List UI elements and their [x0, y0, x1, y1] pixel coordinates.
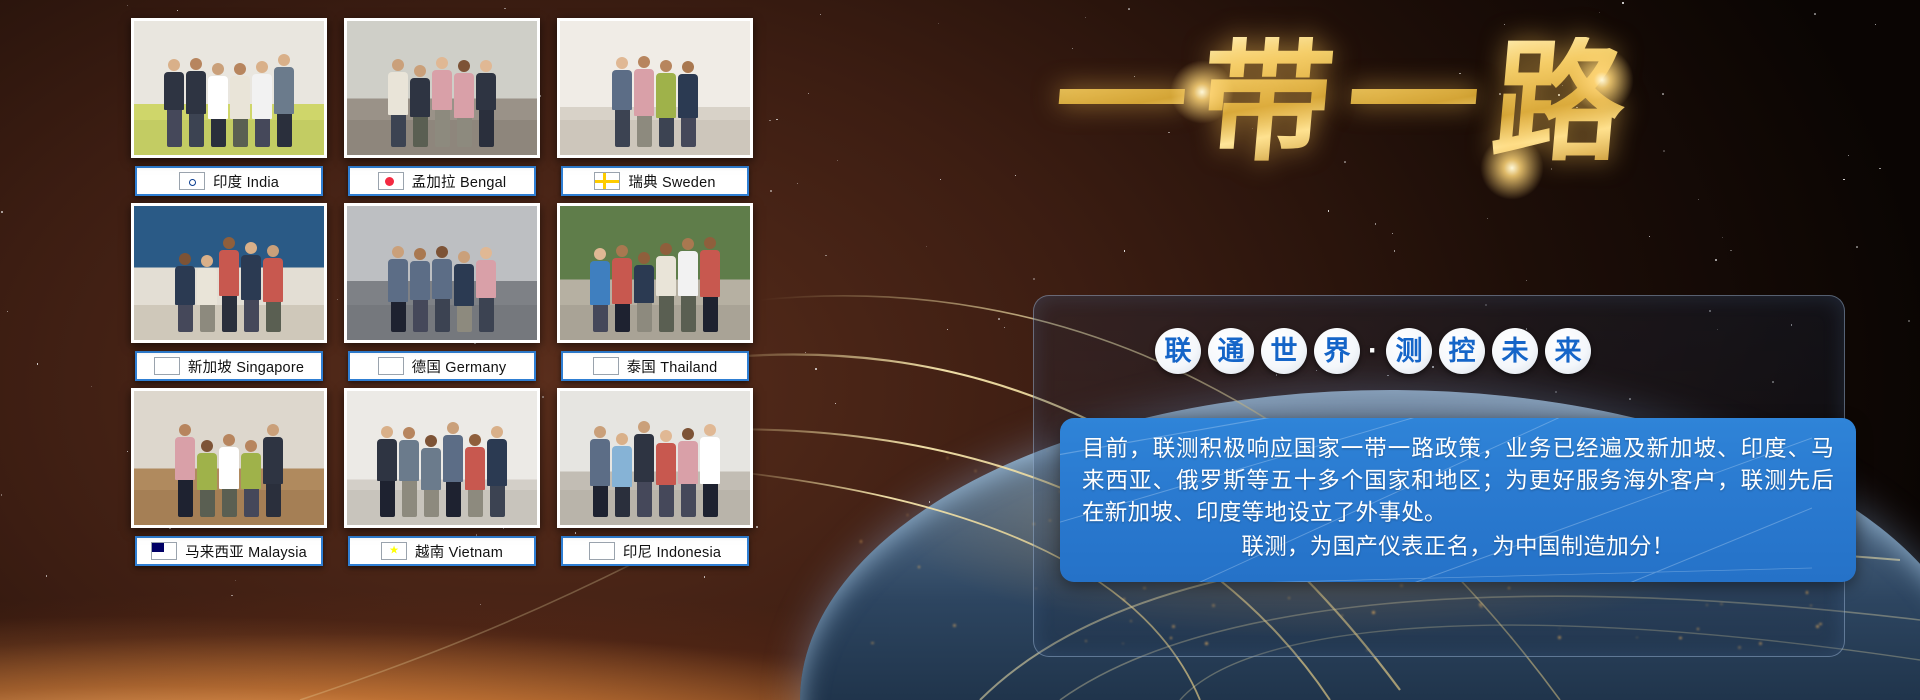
photo-people-group: [164, 54, 294, 148]
star-speck: [1252, 128, 1253, 129]
person-legs: [266, 302, 281, 332]
person-head: [168, 59, 180, 71]
star-speck: [1599, 12, 1600, 13]
person-legs: [681, 484, 696, 517]
star-speck: [1649, 236, 1650, 237]
person-legs: [402, 481, 417, 518]
photo-person: [241, 440, 261, 518]
star-speck: [1843, 179, 1844, 180]
person-head: [616, 433, 628, 445]
person-legs: [435, 110, 450, 147]
person-head: [638, 56, 650, 68]
person-head: [414, 248, 426, 260]
person-head: [179, 424, 191, 436]
country-photo[interactable]: [344, 388, 540, 528]
photo-person: [443, 422, 463, 517]
gallery-item[interactable]: 新加坡 Singapore: [134, 203, 324, 381]
country-caption[interactable]: 孟加拉 Bengal: [348, 166, 536, 196]
person-head: [414, 65, 426, 77]
person-legs: [659, 296, 674, 333]
person-torso: [656, 256, 676, 295]
person-head: [458, 60, 470, 72]
person-legs: [380, 481, 395, 518]
slogan-separator: ·: [1367, 336, 1379, 366]
person-head: [469, 434, 481, 446]
star-speck: [1879, 168, 1880, 169]
person-legs: [490, 486, 505, 518]
person-torso: [656, 73, 676, 119]
person-head: [480, 60, 492, 72]
star-speck: [797, 183, 799, 185]
photo-person: [186, 58, 206, 148]
person-head: [682, 61, 694, 73]
person-torso: [656, 443, 676, 485]
photo-person: [219, 434, 239, 517]
star-speck: [1908, 320, 1909, 321]
person-legs: [233, 119, 248, 147]
person-head: [491, 426, 503, 438]
photo-people-group: [590, 237, 720, 333]
photo-person: [590, 426, 610, 517]
person-head: [201, 440, 213, 452]
person-head: [245, 242, 257, 254]
photo-person: [274, 54, 294, 148]
country-label: 新加坡 Singapore: [188, 356, 304, 377]
person-torso: [590, 261, 610, 305]
photo-person: [634, 421, 654, 517]
star-speck: [776, 119, 777, 120]
photo-person: [612, 57, 632, 148]
description-textbox: 目前，联测积极响应国家一带一路政策，业务已经遍及新加坡、印度、马来西亚、俄罗斯等…: [1060, 418, 1856, 582]
person-torso: [700, 437, 720, 484]
person-head: [682, 428, 694, 440]
country-caption[interactable]: 瑞典 Sweden: [561, 166, 749, 196]
country-label: 越南 Vietnam: [415, 541, 503, 562]
photo-person: [476, 247, 496, 333]
person-torso: [454, 73, 474, 118]
star-speck: [1662, 93, 1664, 95]
star-speck: [1344, 161, 1346, 163]
star-speck: [805, 352, 806, 353]
person-head: [447, 422, 459, 434]
country-label: 孟加拉 Bengal: [412, 171, 507, 192]
person-legs: [178, 480, 193, 517]
country-photo[interactable]: [131, 18, 327, 158]
star-speck: [825, 255, 827, 257]
person-legs: [222, 296, 237, 333]
lens-flare: [1480, 136, 1544, 200]
person-legs: [615, 487, 630, 517]
star-speck: [7, 311, 8, 312]
person-head: [245, 440, 257, 452]
photo-people-group: [175, 424, 283, 518]
person-torso: [432, 70, 452, 110]
city-light: [975, 470, 977, 472]
gallery-item[interactable]: 孟加拉 Bengal: [347, 18, 537, 196]
person-torso: [175, 266, 195, 305]
person-head: [392, 246, 404, 258]
photo-person: [208, 63, 228, 147]
person-legs: [659, 485, 674, 517]
star-speck: [929, 501, 930, 502]
person-legs: [446, 482, 461, 517]
gallery-item[interactable]: 马来西亚 Malaysia: [134, 388, 324, 566]
photo-people-group: [388, 246, 496, 332]
country-label: 德国 Germany: [412, 356, 507, 377]
person-legs: [391, 302, 406, 332]
thailand-flag: [593, 357, 619, 375]
person-legs: [277, 114, 292, 148]
star-speck: [1814, 13, 1816, 15]
star-speck: [1504, 24, 1505, 25]
person-legs: [681, 118, 696, 148]
photo-person: [656, 60, 676, 148]
photo-person: [388, 246, 408, 332]
person-head: [234, 63, 246, 75]
photo-person: [700, 237, 720, 333]
person-torso: [186, 71, 206, 114]
photo-person: [612, 433, 632, 517]
person-legs: [457, 306, 472, 333]
photo-people-group: [388, 57, 496, 147]
indonesia-flag: [589, 542, 615, 560]
slogan-badge: 世: [1261, 328, 1307, 374]
person-legs: [637, 482, 652, 518]
person-torso: [700, 250, 720, 297]
city-light: [953, 624, 956, 627]
star-speck: [37, 363, 38, 364]
star-speck: [926, 246, 927, 247]
star-speck: [127, 5, 129, 7]
star-speck: [1875, 24, 1876, 25]
photo-person: [432, 246, 452, 332]
person-head: [594, 248, 606, 260]
star-speck: [947, 329, 948, 330]
photo-person: [197, 440, 217, 517]
person-legs: [200, 490, 215, 517]
star-speck: [1622, 2, 1623, 3]
person-legs: [593, 486, 608, 517]
person-torso: [476, 73, 496, 110]
person-torso: [634, 265, 654, 303]
star-speck: [46, 575, 47, 576]
photo-person: [410, 248, 430, 332]
person-legs: [167, 110, 182, 147]
slogan-badge: 测: [1386, 328, 1432, 374]
person-legs: [424, 490, 439, 517]
calligraphy-char: 路: [1487, 37, 1631, 169]
country-caption[interactable]: 马来西亚 Malaysia: [135, 536, 323, 566]
person-head: [436, 246, 448, 258]
star-speck: [1848, 155, 1849, 156]
photo-people-group: [590, 421, 720, 517]
star-speck: [1558, 94, 1560, 96]
photo-people-group: [175, 237, 283, 333]
photo-person: [590, 248, 610, 333]
person-legs: [703, 484, 718, 517]
star-speck: [127, 451, 128, 452]
star-speck: [770, 190, 772, 192]
country-label: 印度 India: [213, 171, 279, 192]
person-legs: [435, 299, 450, 332]
photo-person: [476, 60, 496, 147]
star-speck: [1722, 237, 1723, 238]
star-speck: [837, 160, 838, 161]
person-head: [436, 57, 448, 69]
person-head: [201, 255, 213, 267]
person-head: [480, 247, 492, 259]
photo-person: [656, 430, 676, 517]
city-light: [871, 642, 874, 645]
star-speck: [835, 403, 836, 404]
gallery-item[interactable]: 印度 India: [134, 18, 324, 196]
star-speck: [808, 93, 809, 94]
person-torso: [230, 76, 250, 119]
person-head: [660, 430, 672, 442]
city-light: [947, 457, 948, 458]
calligraphy-char: 一: [1341, 37, 1485, 169]
gallery-item[interactable]: 瑞典 Sweden: [560, 18, 750, 196]
country-label: 泰国 Thailand: [627, 356, 718, 377]
country-photo[interactable]: [344, 203, 540, 343]
slogan-badge: 来: [1545, 328, 1591, 374]
person-legs: [211, 119, 226, 147]
star-speck: [1134, 76, 1135, 77]
person-head: [704, 424, 716, 436]
star-speck: [1526, 280, 1527, 281]
person-torso: [590, 439, 610, 486]
photo-person: [164, 59, 184, 148]
star-speck: [1551, 168, 1553, 170]
photo-person: [678, 238, 698, 333]
person-torso: [164, 72, 184, 110]
person-head: [682, 238, 694, 250]
person-head: [267, 245, 279, 257]
photo-people-group: [377, 422, 507, 517]
person-torso: [377, 439, 397, 480]
star-speck: [940, 179, 941, 180]
star-speck: [1328, 210, 1329, 211]
city-light: [860, 540, 863, 543]
slogan-badge: 联: [1155, 328, 1201, 374]
photo-person: [252, 61, 272, 147]
gallery-item[interactable]: 泰国 Thailand: [560, 203, 750, 381]
star-speck: [1375, 223, 1376, 224]
photo-person: [432, 57, 452, 147]
person-torso: [465, 447, 485, 491]
photo-person: [399, 427, 419, 517]
star-speck: [815, 368, 816, 369]
person-head: [638, 421, 650, 433]
germany-flag: [378, 357, 404, 375]
star-speck: [1663, 150, 1665, 152]
star-speck: [1499, 93, 1501, 95]
star-speck: [820, 14, 821, 15]
star-speck: [1392, 233, 1393, 234]
person-torso: [410, 261, 430, 300]
city-light: [997, 465, 999, 467]
photo-person: [377, 426, 397, 517]
photo-person: [219, 237, 239, 333]
gallery-item[interactable]: 德国 Germany: [347, 203, 537, 381]
star-speck: [1856, 246, 1858, 248]
country-caption[interactable]: 泰国 Thailand: [561, 351, 749, 381]
person-legs: [178, 305, 193, 332]
slogan-badge: 界: [1314, 328, 1360, 374]
person-legs: [637, 303, 652, 332]
person-legs: [468, 490, 483, 517]
star-speck: [1715, 259, 1717, 261]
photo-person: [454, 60, 474, 148]
photo-person: [263, 424, 283, 518]
person-head: [212, 63, 224, 75]
calligraphy-title: 一带一路: [1010, 8, 1670, 198]
person-torso: [612, 258, 632, 304]
country-caption[interactable]: 印尼 Indonesia: [561, 536, 749, 566]
country-caption[interactable]: 印度 India: [135, 166, 323, 196]
lens-flare: [1170, 60, 1234, 124]
person-torso: [399, 440, 419, 481]
person-torso: [443, 435, 463, 482]
star-speck: [1394, 250, 1396, 252]
country-photo[interactable]: [557, 388, 753, 528]
country-label: 瑞典 Sweden: [628, 171, 715, 192]
country-gallery-grid: 印度 India孟加拉 Bengal瑞典 Sweden新加坡 Singapore…: [134, 18, 754, 582]
country-photo[interactable]: [557, 203, 753, 343]
person-torso: [175, 437, 195, 480]
city-light: [918, 566, 920, 568]
photo-person: [241, 242, 261, 333]
star-speck: [1, 211, 3, 213]
country-photo[interactable]: [557, 18, 753, 158]
person-head: [190, 58, 202, 70]
person-legs: [244, 300, 259, 332]
city-light: [907, 514, 909, 516]
slogan-badges: 联通世界·测控未来: [1155, 328, 1591, 374]
star-speck: [1124, 250, 1125, 251]
lens-flare: [1570, 48, 1634, 112]
person-legs: [637, 116, 652, 147]
photo-person: [634, 56, 654, 148]
country-caption[interactable]: 越南 Vietnam: [348, 536, 536, 566]
person-legs: [479, 110, 494, 147]
person-legs: [703, 297, 718, 333]
calligraphy-char: 一: [1049, 37, 1193, 169]
person-head: [616, 245, 628, 257]
country-caption[interactable]: 新加坡 Singapore: [135, 351, 323, 381]
country-caption[interactable]: 德国 Germany: [348, 351, 536, 381]
star-speck: [938, 23, 939, 24]
person-legs: [189, 114, 204, 148]
photo-person: [656, 243, 676, 332]
person-legs: [222, 489, 237, 517]
photo-people-group: [612, 56, 698, 148]
photo-person: [678, 428, 698, 518]
person-head: [267, 424, 279, 436]
slogan-badge: 未: [1492, 328, 1538, 374]
photo-person: [678, 61, 698, 148]
person-torso: [219, 447, 239, 489]
star-speck: [1085, 17, 1087, 19]
person-torso: [410, 78, 430, 117]
slogan-badge: 通: [1208, 328, 1254, 374]
person-torso: [252, 74, 272, 119]
person-torso: [263, 258, 283, 302]
calligraphy-char: 带: [1195, 37, 1339, 169]
malaysia-flag: [151, 542, 177, 560]
star-speck: [1576, 107, 1578, 109]
person-legs: [413, 300, 428, 332]
person-legs: [615, 110, 630, 147]
person-head: [392, 59, 404, 71]
person-head: [381, 426, 393, 438]
star-speck: [769, 120, 770, 121]
person-head: [594, 426, 606, 438]
country-photo[interactable]: [344, 18, 540, 158]
person-head: [223, 434, 235, 446]
gallery-item[interactable]: 印尼 Indonesia: [560, 388, 750, 566]
star-speck: [1487, 218, 1488, 219]
sweden-flag: [594, 172, 620, 190]
country-photo[interactable]: [131, 388, 327, 528]
country-label: 马来西亚 Malaysia: [185, 541, 307, 562]
photo-person: [634, 252, 654, 332]
star-speck: [977, 489, 978, 490]
person-torso: [634, 69, 654, 116]
person-legs: [615, 304, 630, 332]
person-legs: [413, 117, 428, 147]
star-speck: [1562, 85, 1563, 86]
person-head: [704, 237, 716, 249]
photo-person: [421, 435, 441, 517]
gallery-item[interactable]: 越南 Vietnam: [347, 388, 537, 566]
person-head: [256, 61, 268, 73]
person-head: [425, 435, 437, 447]
person-torso: [678, 441, 698, 485]
person-legs: [255, 119, 270, 148]
photo-person: [175, 424, 195, 518]
person-torso: [388, 72, 408, 115]
person-torso: [219, 250, 239, 296]
description-paragraph-1: 目前，联测积极响应国家一带一路政策，业务已经遍及新加坡、印度、马来西亚、俄罗斯等…: [1082, 434, 1834, 530]
person-torso: [241, 255, 261, 300]
person-head: [403, 427, 415, 439]
slogan-badge: 控: [1439, 328, 1485, 374]
person-legs: [593, 305, 608, 333]
country-photo[interactable]: [131, 203, 327, 343]
person-head: [616, 57, 628, 69]
star-speck: [1698, 199, 1699, 200]
person-legs: [659, 118, 674, 147]
person-torso: [388, 259, 408, 302]
person-torso: [197, 453, 217, 490]
india-flag: [179, 172, 205, 190]
photo-person: [487, 426, 507, 517]
person-torso: [421, 448, 441, 490]
star-speck: [1459, 73, 1460, 74]
person-head: [278, 54, 290, 66]
country-label: 印尼 Indonesia: [623, 541, 721, 562]
person-legs: [479, 298, 494, 332]
photo-person: [263, 245, 283, 332]
vietnam-flag: [381, 542, 407, 560]
photo-person: [410, 65, 430, 147]
photo-person: [175, 253, 195, 332]
person-torso: [476, 260, 496, 298]
photo-person: [230, 63, 250, 147]
person-torso: [678, 251, 698, 296]
photo-person: [612, 245, 632, 332]
